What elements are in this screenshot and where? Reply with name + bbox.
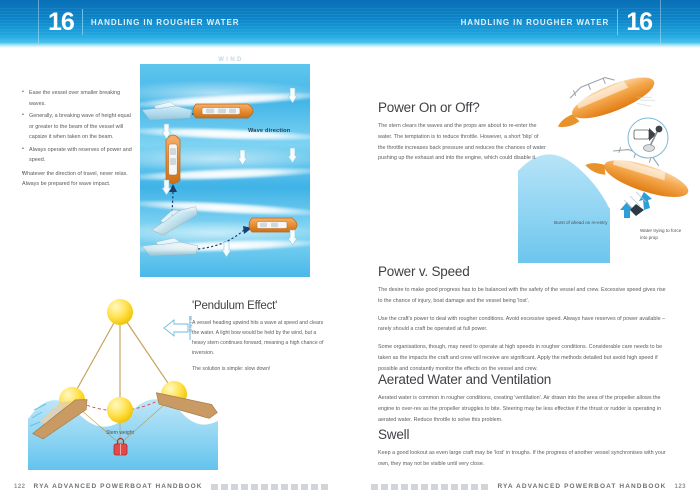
header-divider-right	[617, 9, 618, 35]
page-number-left: 122	[14, 484, 26, 490]
page-header-banner: 16 HANDLING IN ROUGHER WATER HANDLING IN…	[0, 0, 700, 44]
page-number-right: 123	[674, 484, 686, 490]
section-paragraph: Keep a good lookout as even large craft …	[378, 448, 670, 470]
list-item: Generally, a breaking wave of height equ…	[22, 111, 134, 143]
bullet-tail-paragraph: Whatever the direction of travel, never …	[22, 169, 134, 190]
footer-left: 122 RYA ADVANCED POWERBOAT HANDBOOK	[14, 483, 329, 490]
section-paragraph: Some organisations, though, may need to …	[378, 342, 670, 374]
track-dotted-3	[198, 230, 244, 249]
boat-orange-upper	[193, 104, 253, 118]
pendulum-body: A vessel heading upwind hits a wave at s…	[192, 318, 326, 379]
chapter-number-right: 16	[626, 7, 652, 37]
header-rule-left	[38, 0, 39, 44]
water-force-prop-label: Water trying to force into prop	[640, 228, 686, 241]
throttle-inset-icon	[628, 118, 668, 158]
header-right-group: HANDLING IN ROUGHER WATER 16	[461, 6, 652, 38]
burst-ahead-label: Burst of ahead on re-entry	[554, 220, 624, 227]
wave-diagram-svg	[140, 64, 310, 277]
section-paragraph: Aerated water is common in rougher condi…	[378, 393, 670, 425]
stern-weight-label: Stern weight	[88, 430, 152, 436]
section-paragraph: Use the craft's power to deal with rough…	[378, 314, 670, 336]
pendulum-ball-pivot	[107, 299, 133, 325]
header-divider-left	[82, 9, 83, 35]
bullet-list: Ease the vessel over smaller breaking wa…	[22, 88, 134, 192]
prop-spray-arrows	[620, 192, 652, 218]
boat-ghost-upper-left	[142, 102, 192, 120]
chapter-title-left: HANDLING IN ROUGHER WATER	[91, 18, 240, 27]
wave-diagram	[140, 64, 310, 277]
section-heading: Swell	[378, 427, 670, 442]
pendulum-paragraph: A vessel heading upwind hits a wave at s…	[192, 318, 326, 359]
pendulum-paragraph: The solution is simple: slow down!	[192, 364, 326, 374]
wave-direction-label: Wave direction	[248, 128, 290, 134]
boat-ghost-bottom-left	[142, 238, 198, 256]
footer-rule-left	[211, 484, 329, 490]
pendulum-heading: 'Pendulum Effect'	[192, 300, 277, 312]
section-swell: Swell Keep a good lookout as even large …	[378, 427, 670, 477]
header-rule-right	[660, 0, 661, 44]
header-left-group: 16 HANDLING IN ROUGHER WATER	[48, 6, 239, 38]
section-heading: Power v. Speed	[378, 264, 670, 279]
section-heading: Power On or Off?	[378, 100, 546, 115]
chapter-title-right: HANDLING IN ROUGHER WATER	[461, 18, 610, 27]
footer-right: RYA ADVANCED POWERBOAT HANDBOOK 123	[371, 483, 686, 490]
section-paragraph: The stern clears the waves and the props…	[378, 121, 546, 164]
section-heading: Aerated Water and Ventilation	[378, 372, 670, 387]
book-title-left: RYA ADVANCED POWERBOAT HANDBOOK	[34, 483, 203, 490]
pendulum-ball-centre	[107, 397, 133, 423]
list-item: Ease the vessel over smaller breaking wa…	[22, 88, 134, 109]
pendulum-diagram: Stern weight WIND	[28, 292, 218, 470]
book-title-right: RYA ADVANCED POWERBOAT HANDBOOK	[497, 483, 666, 490]
section-aerated-water: Aerated Water and Ventilation Aerated wa…	[378, 372, 670, 432]
section-power-v-speed: Power v. Speed The desire to make good p…	[378, 264, 670, 382]
section-power-on-or-off: Power On or Off? The stern clears the wa…	[378, 100, 546, 171]
boat-ghost-lower-left	[148, 200, 201, 239]
book-spread-page: 16 HANDLING IN ROUGHER WATER HANDLING IN…	[0, 0, 700, 499]
footer-rule-right	[371, 484, 489, 490]
boat-orange-middle	[166, 135, 180, 184]
chapter-number-left: 16	[48, 7, 74, 37]
pendulum-wind-arrow	[164, 316, 190, 340]
wind-label: WIND	[205, 57, 257, 63]
list-item: Always operate with reserves of power an…	[22, 145, 134, 166]
section-paragraph: The desire to make good progress has to …	[378, 285, 670, 307]
